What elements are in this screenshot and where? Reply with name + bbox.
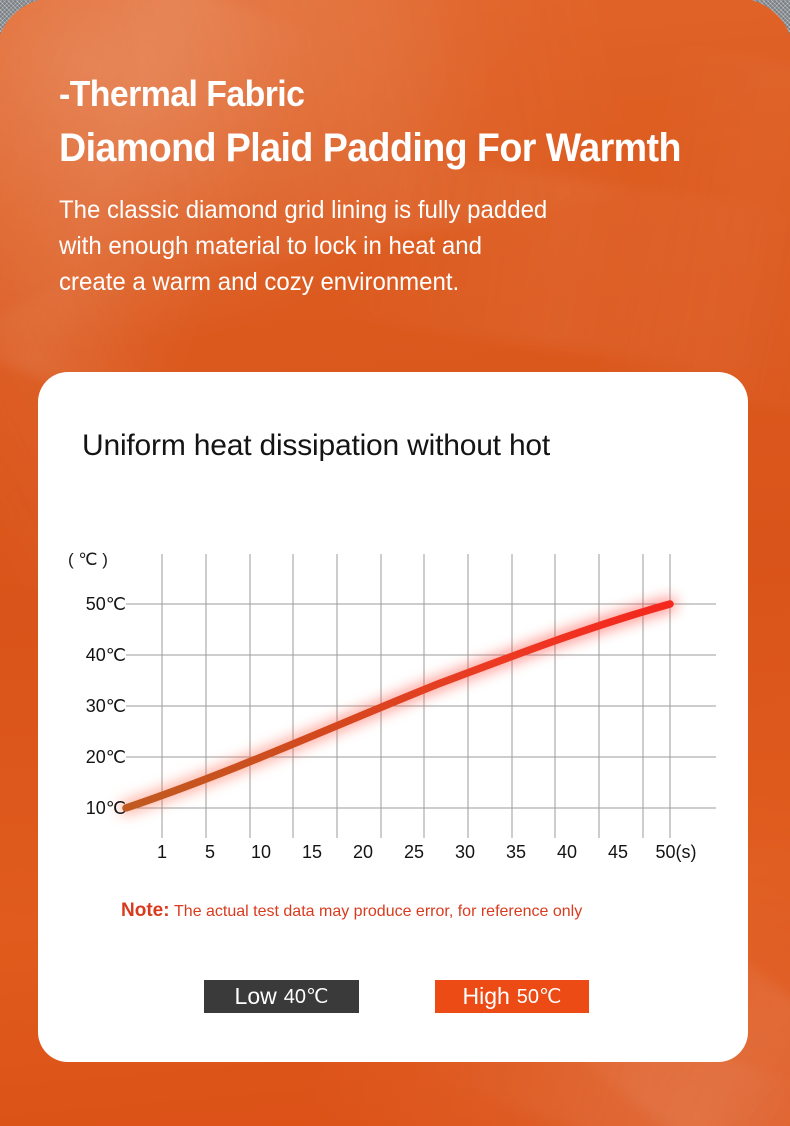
description-block: The classic diamond grid lining is fully… — [59, 192, 731, 300]
x-tick-label: 20 — [353, 842, 373, 863]
x-tick-label: 30 — [455, 842, 475, 863]
badge-high-word: High — [462, 983, 509, 1010]
description-line-1: The classic diamond grid lining is fully… — [59, 192, 731, 228]
x-tick-label: 45 — [608, 842, 628, 863]
eyebrow-text: -Thermal Fabric — [59, 76, 717, 112]
y-tick-label: 20℃ — [86, 747, 126, 768]
x-tick-label: 50(s) — [655, 842, 696, 863]
badge-low-word: Low — [235, 983, 277, 1010]
product-detail-page: -Thermal Fabric Diamond Plaid Padding Fo… — [0, 0, 790, 1126]
temperature-badges: Low 40℃ High 50℃ — [38, 980, 748, 1016]
description-line-3: create a warm and cozy environment. — [59, 264, 731, 300]
header-block: -Thermal Fabric Diamond Plaid Padding Fo… — [59, 76, 759, 300]
y-tick-label: 40℃ — [86, 645, 126, 666]
x-tick-label: 15 — [302, 842, 322, 863]
y-tick-label: 10℃ — [86, 798, 126, 819]
note-label: Note: — [121, 900, 170, 921]
description-line-2: with enough material to lock in heat and — [59, 228, 731, 264]
note-text: The actual test data may produce error, … — [174, 903, 582, 920]
page-title: Diamond Plaid Padding For Warmth — [59, 128, 717, 168]
status-badge-high[interactable]: High 50℃ — [435, 980, 589, 1013]
badge-low-temp: 40℃ — [284, 984, 329, 1009]
y-axis-tick-labels: 50℃ 40℃ 30℃ 20℃ 10℃ — [64, 372, 126, 1062]
x-tick-label: 1 — [157, 842, 167, 863]
temperature-line-chart — [38, 372, 748, 1062]
chart-card: Uniform heat dissipation without hot — [38, 372, 748, 1062]
x-tick-label: 40 — [557, 842, 577, 863]
y-tick-label: 50℃ — [86, 594, 126, 615]
x-tick-label: 35 — [506, 842, 526, 863]
badge-high-temp: 50℃ — [517, 984, 562, 1009]
y-tick-label: 30℃ — [86, 696, 126, 717]
x-tick-label: 25 — [404, 842, 424, 863]
x-tick-label: 10 — [251, 842, 271, 863]
x-tick-label: 5 — [205, 842, 215, 863]
chart-note: Note: The actual test data may produce e… — [121, 900, 582, 922]
x-axis-tick-labels: 1 5 10 15 20 25 30 35 40 45 50(s) — [38, 842, 748, 872]
status-badge-low[interactable]: Low 40℃ — [204, 980, 359, 1013]
